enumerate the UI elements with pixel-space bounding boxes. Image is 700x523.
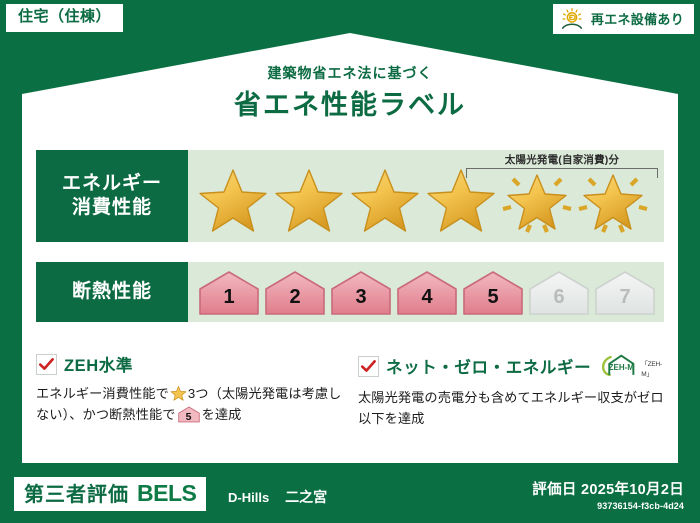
insulation-grade-3-number: 3 <box>355 287 366 316</box>
inline-grade-number: 5 <box>178 412 200 423</box>
star-filled-2 <box>272 164 346 234</box>
criterion-nze-description: 太陽光発電の売電分も含めてエネルギー収支がゼロ以下を達成 <box>358 387 670 430</box>
criterion-nze-header: ネット・ゼロ・エネルギー ZEH-M 「ZEH-M」 <box>358 352 670 380</box>
star-filled-4 <box>424 164 498 234</box>
evaluation-date-value: 2025年10月2日 <box>581 482 684 498</box>
criterion-zeh-description: エネルギー消費性能で3つ（太陽光発電は考慮しない）、かつ断熱性能で5を達成 <box>36 383 346 426</box>
zeh-m-house-icon: ZEH-M <box>599 352 640 380</box>
bels-en-label: BELS <box>137 481 196 506</box>
bels-jp-label: 第三者評価 <box>24 484 129 506</box>
star-filled-1 <box>196 164 270 234</box>
energy-label-line1: エネルギー <box>62 172 162 196</box>
building-sub-name: 二之宮 <box>285 487 327 507</box>
insulation-grade-4: 4 <box>396 270 458 316</box>
insulation-grade-6: 6 <box>528 270 590 316</box>
insulation-grade-3: 3 <box>330 270 392 316</box>
zeh-m-logo-text: ZEH-M <box>609 363 635 372</box>
zeh-desc-part1: エネルギー消費性能で <box>36 386 169 401</box>
renewable-badge-label: 再エネ設備あり <box>591 13 684 26</box>
energy-performance-row: エネルギー 消費性能 <box>36 150 664 242</box>
criterion-zeh-header: ZEH水準 <box>36 352 346 376</box>
insulation-grade-scale: 1 2 3 4 5 <box>188 262 656 322</box>
zeh-desc-part3: を達成 <box>202 407 242 422</box>
star-solar-6 <box>576 164 650 234</box>
evaluation-meta: 評価日 2025年10月2日 93736154-f3cb-4d24 <box>532 478 684 511</box>
inline-star-icon <box>170 385 187 401</box>
evaluation-id: 93736154-f3cb-4d24 <box>532 501 684 511</box>
label-title: 省エネ性能ラベル <box>0 83 700 122</box>
insulation-grade-2: 2 <box>264 270 326 316</box>
criterion-zeh: ZEH水準 エネルギー消費性能で3つ（太陽光発電は考慮しない）、かつ断熱性能で5… <box>36 352 346 426</box>
star-rating <box>188 164 664 234</box>
label-subtitle: 建築物省エネ法に基づく <box>0 63 700 83</box>
evaluation-date-label: 評価日 <box>532 482 576 498</box>
checkbox-checked-icon-2 <box>358 356 379 377</box>
zeh-m-logo: ZEH-M 「ZEH-M」 <box>599 352 670 380</box>
inline-insulation-grade-icon: 5 <box>178 406 200 423</box>
insulation-grade-1: 1 <box>198 270 260 316</box>
energy-row-label: エネルギー 消費性能 <box>36 150 188 242</box>
energy-label-line2: 消費性能 <box>72 196 152 220</box>
star-filled-3 <box>348 164 422 234</box>
checkbox-checked-icon <box>36 354 57 375</box>
solar-sun-icon <box>561 8 585 30</box>
insulation-grade-6-number: 6 <box>553 287 564 316</box>
building-type-tag: 住宅（住棟） <box>6 4 123 32</box>
renewable-equipment-badge: 再エネ設備あり <box>553 4 694 34</box>
insulation-row-label: 断熱性能 <box>36 262 188 322</box>
insulation-grade-7: 7 <box>594 270 656 316</box>
bels-third-party-badge: 第三者評価 BELS <box>14 477 206 511</box>
insulation-row-body: 1 2 3 4 5 <box>188 262 664 322</box>
criterion-zeh-title: ZEH水準 <box>64 352 133 376</box>
insulation-grade-7-number: 7 <box>619 287 630 316</box>
zeh-m-logo-caption: 「ZEH-M」 <box>641 358 670 380</box>
insulation-grade-2-number: 2 <box>289 287 300 316</box>
building-name: D-Hills <box>228 490 269 505</box>
insulation-grade-1-number: 1 <box>223 287 234 316</box>
building-name-group: D-Hills 二之宮 <box>228 487 327 507</box>
criterion-nze-title: ネット・ゼロ・エネルギー <box>386 354 591 378</box>
insulation-grade-5: 5 <box>462 270 524 316</box>
insulation-performance-row: 断熱性能 1 2 3 <box>36 262 664 322</box>
star-solar-5 <box>500 164 574 234</box>
criterion-net-zero-energy: ネット・ゼロ・エネルギー ZEH-M 「ZEH-M」 太陽光発電の売電分も含めて… <box>358 352 670 430</box>
evaluation-date-line: 評価日 2025年10月2日 <box>532 478 684 499</box>
energy-row-body: 太陽光発電(自家消費)分 <box>188 150 664 242</box>
insulation-grade-4-number: 4 <box>421 287 432 316</box>
energy-performance-label: 住宅（住棟） 再エネ設備あり 建築物省エネ法に基づく 省エネ性能ラベル エネルギ… <box>0 0 700 523</box>
insulation-grade-5-number: 5 <box>487 287 498 316</box>
